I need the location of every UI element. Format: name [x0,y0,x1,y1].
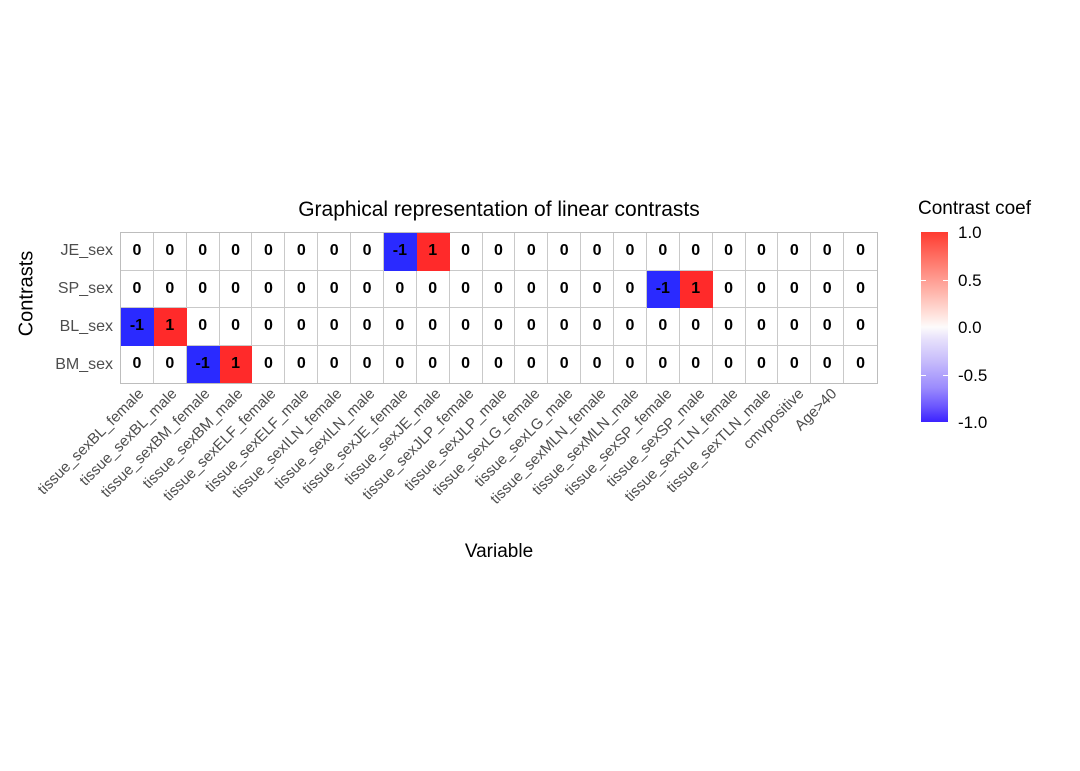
heatmap-cell: 0 [384,346,417,384]
x-axis-title: Variable [120,541,878,563]
heatmap-cell: 0 [384,271,417,309]
legend-title: Contrast coef [918,198,1031,220]
heatmap-cell: 0 [515,233,548,271]
legend-tick-mark [943,280,948,282]
y-tick-label-group: JE_sexSP_sexBL_sexBM_sex [0,232,113,384]
legend: Contrast coef 1.00.50.0-0.5-1.0 [918,198,1078,438]
heatmap-cell: 0 [548,346,581,384]
heatmap-cell: 0 [483,271,516,309]
y-tick-label: BL_sex [3,319,113,335]
heatmap-cell: 0 [581,233,614,271]
heatmap-cell: 0 [220,233,253,271]
x-tick-label-group: tissue_sexBL_femaletissue_sexBL_maletiss… [120,384,878,534]
heatmap-cell: 0 [614,346,647,384]
heatmap-cell: 0 [548,271,581,309]
heatmap-cell: 0 [614,308,647,346]
heatmap-cell: 0 [252,346,285,384]
heatmap-cell: 0 [351,233,384,271]
heatmap-cell: 0 [121,233,154,271]
heatmap-cell: 0 [844,308,877,346]
heatmap-cell: 0 [187,271,220,309]
heatmap-grid: 00000000-1100000000000000000000000000000… [120,232,878,384]
heatmap-cell: 0 [351,346,384,384]
heatmap-cell: 0 [844,346,877,384]
heatmap-cell: 0 [483,233,516,271]
heatmap-cell: 1 [680,271,713,309]
heatmap-cell: 0 [252,233,285,271]
legend-colorbar [921,232,948,422]
legend-tick-mark [943,375,948,377]
heatmap-cell: 0 [778,308,811,346]
heatmap-cell: 0 [811,346,844,384]
heatmap-cell: 0 [548,308,581,346]
heatmap-cell: 0 [713,346,746,384]
heatmap-cell: 0 [450,233,483,271]
heatmap-cell: 0 [713,308,746,346]
heatmap-cell: -1 [121,308,154,346]
heatmap-cell: 0 [285,346,318,384]
heatmap-cell: 0 [515,308,548,346]
heatmap-cell: 0 [351,271,384,309]
heatmap-cell: 0 [318,308,351,346]
heatmap-cell: 0 [187,233,220,271]
heatmap-cell: 0 [515,346,548,384]
heatmap-cell: 0 [220,308,253,346]
heatmap-cell: 0 [713,233,746,271]
heatmap-cell: -1 [187,346,220,384]
heatmap-cell: 1 [417,233,450,271]
legend-tick-label: 0.5 [958,272,982,289]
heatmap-cell: 0 [778,233,811,271]
heatmap-cell: 0 [351,308,384,346]
legend-tick-mark [921,280,926,282]
heatmap-cell: 0 [515,271,548,309]
heatmap-cell: 0 [746,233,779,271]
heatmap-cell: 0 [318,233,351,271]
heatmap-cell: 0 [417,271,450,309]
heatmap-cell: 0 [384,308,417,346]
heatmap-cell: 0 [778,271,811,309]
heatmap-cell: 0 [746,346,779,384]
heatmap-cell: 0 [647,233,680,271]
heatmap-cell: 0 [285,271,318,309]
heatmap-cell: 0 [252,271,285,309]
heatmap-cell: 1 [154,308,187,346]
heatmap-cell: -1 [647,271,680,309]
heatmap-row: 00000000-110000000000000 [121,233,877,271]
heatmap-cell: 0 [187,308,220,346]
legend-tick-label: -1.0 [958,414,987,431]
heatmap-cell: 0 [746,308,779,346]
heatmap-cell: 0 [318,271,351,309]
heatmap-cell: 0 [581,271,614,309]
heatmap-cell: 0 [647,308,680,346]
heatmap-cell: 0 [844,233,877,271]
heatmap-cell: 0 [647,346,680,384]
heatmap-cell: 0 [285,308,318,346]
heatmap-cell: 0 [154,346,187,384]
heatmap-cell: 0 [483,346,516,384]
heatmap-cell: 0 [581,308,614,346]
heatmap-cell: 0 [581,346,614,384]
heatmap-cell: 0 [680,308,713,346]
y-tick-label: SP_sex [3,281,113,297]
heatmap-cell: 0 [450,308,483,346]
heatmap-cell: 0 [811,271,844,309]
heatmap-cell: 0 [844,271,877,309]
heatmap-cell: 0 [680,346,713,384]
legend-tick-label: -0.5 [958,367,987,384]
heatmap-row: 00-110000000000000000000 [121,346,877,384]
heatmap-cell: 0 [811,233,844,271]
heatmap-cell: 0 [450,271,483,309]
heatmap-cell: 0 [778,346,811,384]
heatmap-cell: 0 [680,233,713,271]
heatmap-cell: 0 [614,271,647,309]
heatmap-cell: 0 [811,308,844,346]
heatmap-cell: 0 [154,233,187,271]
heatmap-cell: 0 [220,271,253,309]
legend-tick-label: 0.0 [958,319,982,336]
legend-tick-label: 1.0 [958,224,982,241]
page-title: Graphical representation of linear contr… [120,198,878,222]
heatmap-cell: 0 [417,346,450,384]
heatmap-cell: 0 [614,233,647,271]
heatmap-cell: 0 [713,271,746,309]
heatmap-cell: 0 [318,346,351,384]
heatmap-cell: 0 [285,233,318,271]
y-tick-label: JE_sex [3,243,113,259]
legend-tick-mark [921,375,926,377]
heatmap-cell: 0 [746,271,779,309]
heatmap-cell: 0 [450,346,483,384]
heatmap-row: -11000000000000000000000 [121,308,877,346]
heatmap-cell: 0 [483,308,516,346]
heatmap-cell: 1 [220,346,253,384]
heatmap-cell: 0 [548,233,581,271]
heatmap-cell: 0 [252,308,285,346]
y-tick-label: BM_sex [3,357,113,373]
heatmap-cell: 0 [154,271,187,309]
heatmap-cell: 0 [417,308,450,346]
heatmap-cell: -1 [384,233,417,271]
heatmap-cell: 0 [121,346,154,384]
heatmap-cell: 0 [121,271,154,309]
heatmap-row: 0000000000000000-1100000 [121,271,877,309]
